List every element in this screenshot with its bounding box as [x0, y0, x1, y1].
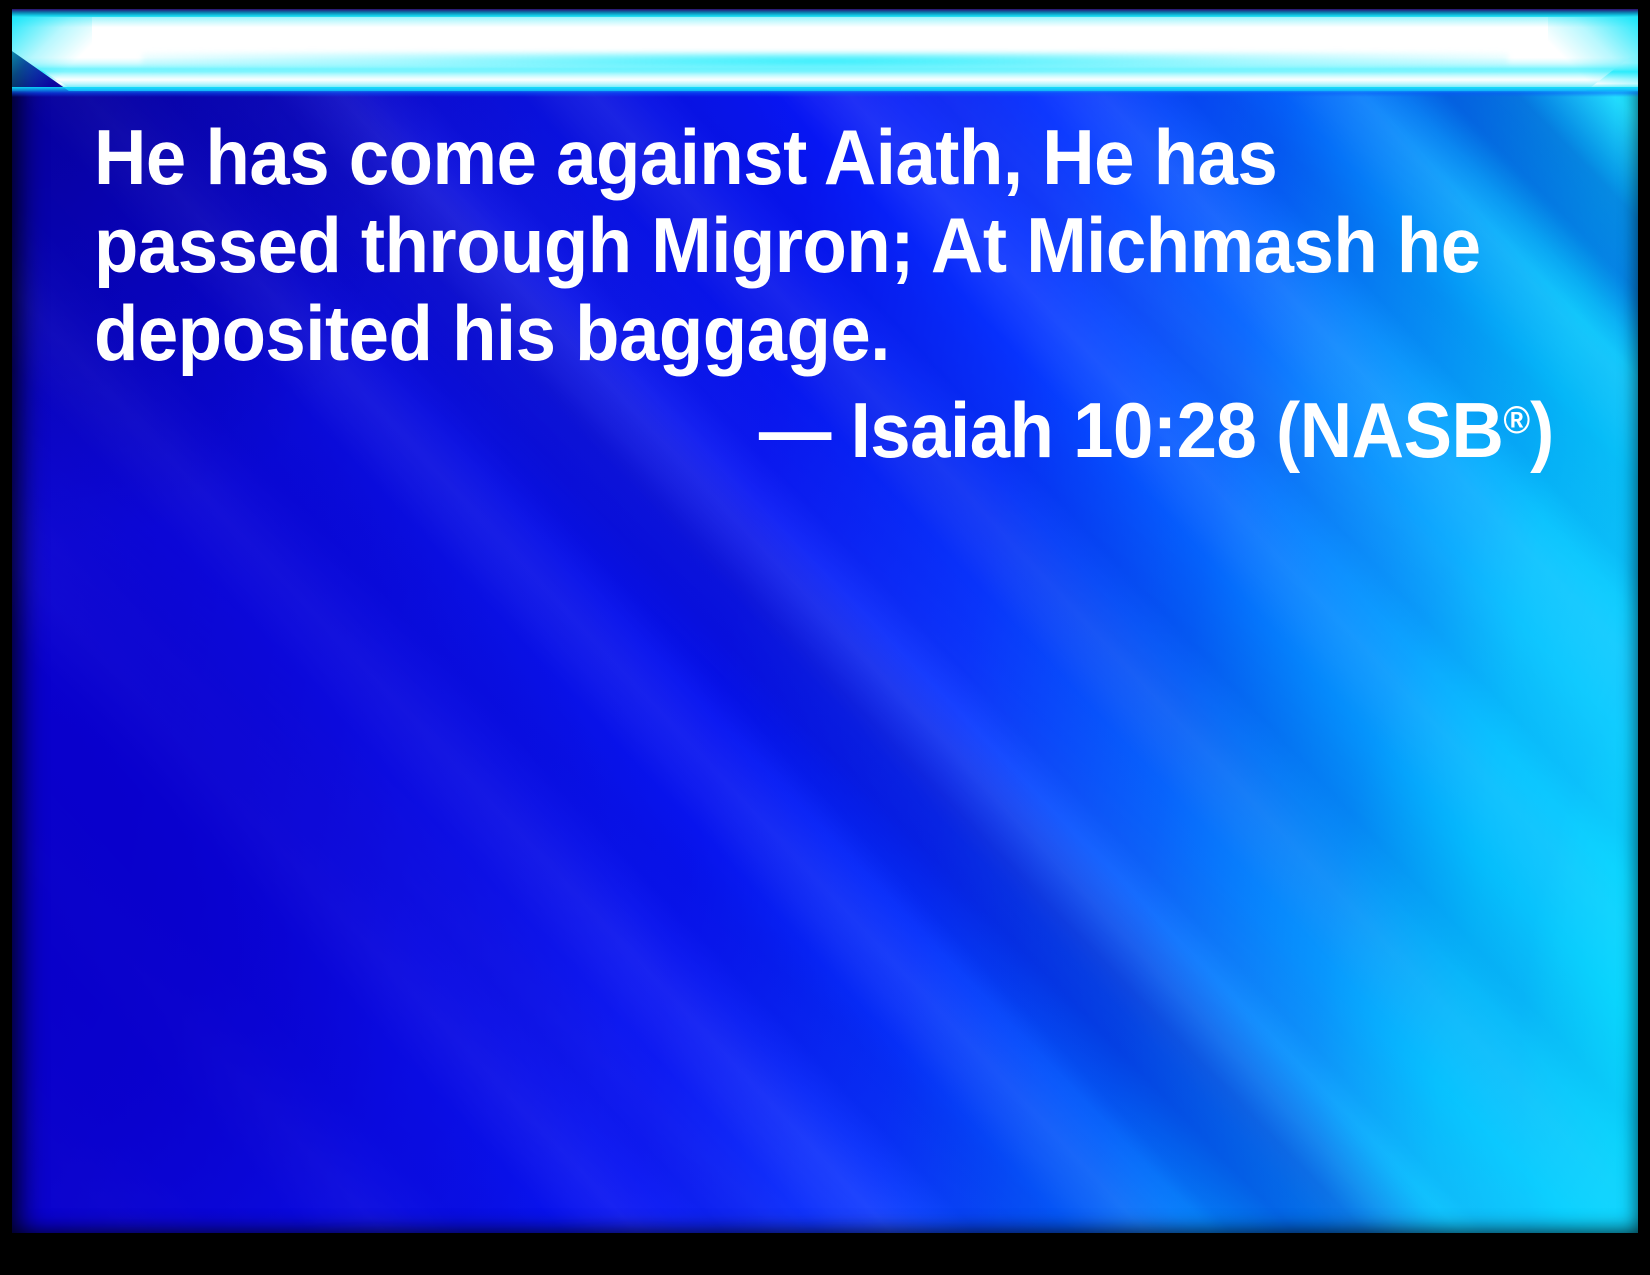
reference-spacer-2: [1256, 386, 1276, 474]
reference-dash: —: [759, 386, 831, 474]
banner-right-bevel: [1548, 17, 1638, 91]
reference-translation: NASB: [1300, 386, 1504, 474]
banner-under-glow: [12, 87, 1638, 97]
top-banner: [12, 9, 1638, 91]
reference-close-paren: ): [1530, 386, 1554, 474]
verse-reference: — Isaiah 10:28 (NASB®): [759, 377, 1554, 474]
reference-citation: Isaiah 10:28: [851, 386, 1257, 474]
reference-open-paren: (: [1276, 386, 1300, 474]
banner-left-bevel: [12, 17, 92, 91]
verse-slide: He has come against Aiath, He has passed…: [0, 0, 1650, 1275]
banner-cyan-wash: [142, 53, 1508, 69]
verse-line-1: He has come against Aiath, He has: [94, 113, 1452, 201]
slide-stage: He has come against Aiath, He has passed…: [12, 9, 1638, 1233]
verse-reference-block: — Isaiah 10:28 (NASB®): [94, 377, 1554, 474]
verse-line-2: passed through Migron; At Michmash he: [94, 201, 1452, 289]
reference-spacer-1: [831, 386, 851, 474]
registered-trademark-icon: ®: [1504, 399, 1531, 442]
verse-line-3: deposited his baggage.: [94, 289, 1452, 377]
verse-text-block: He has come against Aiath, He has passed…: [94, 113, 1554, 377]
